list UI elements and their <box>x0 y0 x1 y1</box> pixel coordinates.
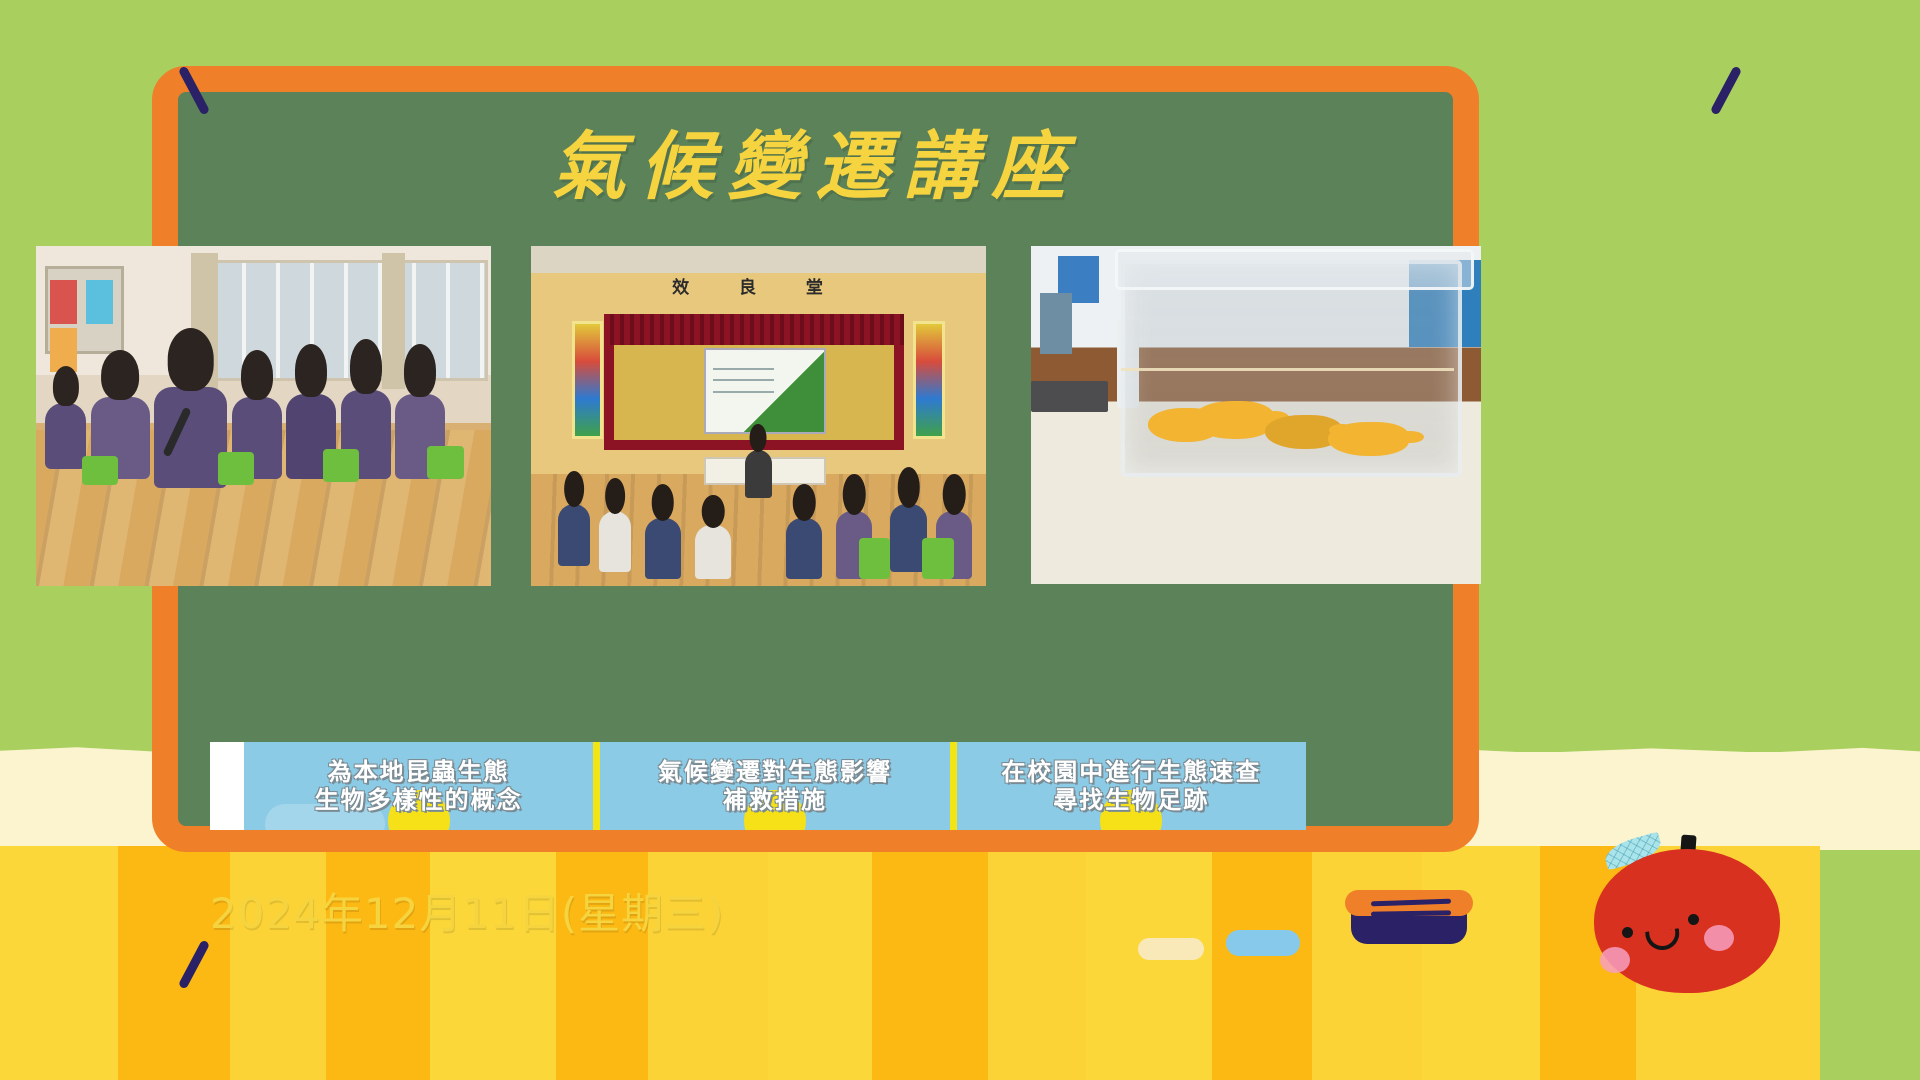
background-stripe <box>768 846 872 1080</box>
banner-panel-3-line2: 尋找生物足跡 <box>1053 786 1209 814</box>
background-stripe <box>0 846 118 1080</box>
photo-row: 效 良 堂 <box>36 246 1884 586</box>
hall-name-text: 效 良 堂 <box>531 273 986 298</box>
photo-students-with-microphone <box>36 246 491 586</box>
banner-panel-3-line1: 在校園中進行生態速查 <box>1001 758 1261 786</box>
banner-panel-1[interactable]: 為本地昆蟲生態 生物多樣性的概念 <box>244 742 593 830</box>
background-stripe <box>1086 846 1212 1080</box>
smiling-apple-icon <box>1594 825 1780 993</box>
event-date: 2024年12月11日(星期三) <box>210 880 725 941</box>
banner-panel-1-line2: 生物多樣性的概念 <box>315 786 523 814</box>
banner-panel-1-line1: 為本地昆蟲生態 <box>328 758 510 786</box>
pill-doodle-icon <box>1226 930 1300 956</box>
banner-panel-3[interactable]: 在校園中進行生態速查 尋找生物足跡 <box>957 742 1306 830</box>
background-stripe <box>1212 846 1312 1080</box>
page-title: 氣候變遷講座 <box>178 130 1453 204</box>
banner-panel-2-line2: 補救措施 <box>723 786 827 814</box>
background-stripe <box>1422 846 1540 1080</box>
banner-white-cap <box>210 742 244 830</box>
photo-hall-lecture-stage: 效 良 堂 <box>531 246 986 586</box>
banner-divider <box>593 742 600 830</box>
poster-canvas: 氣候變遷講座 <box>0 0 1920 1080</box>
background-stripe <box>988 846 1086 1080</box>
banner-panel-2-line1: 氣候變遷對生態影響 <box>658 758 892 786</box>
banner-divider <box>950 742 957 830</box>
background-stripe <box>1312 846 1422 1080</box>
pill-doodle-icon <box>1138 938 1204 960</box>
photo-frog-tank-specimen <box>1031 246 1481 584</box>
background-stripe <box>872 846 988 1080</box>
pencil-case-icon <box>1345 890 1473 944</box>
banner-panel-2[interactable]: 氣候變遷對生態影響 補救措施 <box>600 742 949 830</box>
topic-banner: 為本地昆蟲生態 生物多樣性的概念 氣候變遷對生態影響 補救措施 在校園中進行生態… <box>210 742 1306 830</box>
